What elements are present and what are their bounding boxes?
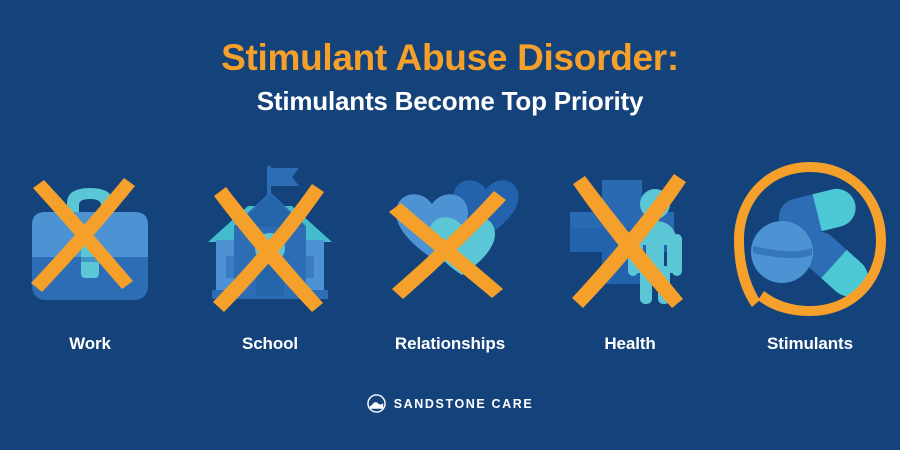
cross-out-mark-health (550, 160, 710, 320)
footer-logo: SANDSTONE CARE (0, 394, 900, 413)
icon-cell-stimulants: Stimulants (720, 160, 900, 354)
icon-label-relationships: Relationships (395, 334, 505, 354)
hearts-icon (370, 160, 530, 320)
brand-name: SANDSTONE CARE (394, 397, 534, 411)
icon-cell-relationships: Relationships (360, 160, 540, 354)
icon-label-health: Health (604, 334, 655, 354)
page-title: Stimulant Abuse Disorder: (0, 36, 900, 80)
cross-out-mark-work (10, 160, 170, 320)
infographic-canvas: Stimulant Abuse Disorder: Stimulants Bec… (0, 0, 900, 450)
icon-label-work: Work (69, 334, 111, 354)
icon-cell-school: School (180, 160, 360, 354)
icon-label-stimulants: Stimulants (767, 334, 853, 354)
school-building-icon (190, 160, 350, 320)
cross-out-mark-school (190, 160, 350, 320)
icon-cell-work: Work (0, 160, 180, 354)
icon-cell-health: Health (540, 160, 720, 354)
cross-out-mark-relationships (370, 160, 530, 320)
briefcase-icon (10, 160, 170, 320)
circle-highlight-mark-stimulants (730, 160, 890, 320)
icon-row: Work (0, 160, 900, 354)
page-subtitle: Stimulants Become Top Priority (0, 86, 900, 117)
header-block: Stimulant Abuse Disorder: Stimulants Bec… (0, 36, 900, 117)
sandstone-care-circle-logo (367, 394, 386, 413)
medical-cross-person-icon (550, 160, 710, 320)
icon-label-school: School (242, 334, 298, 354)
pills-icon (730, 160, 890, 320)
